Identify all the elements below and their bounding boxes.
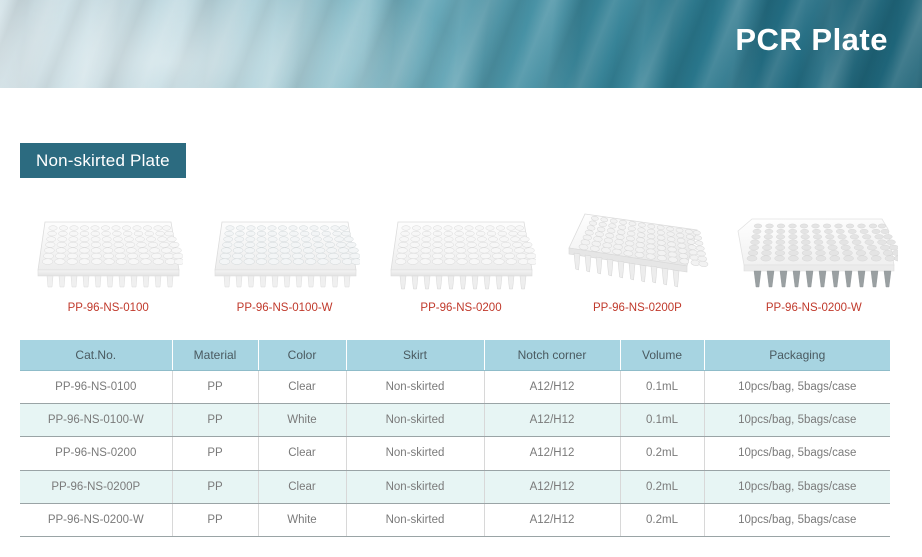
cell-volume: 0.1mL bbox=[620, 370, 704, 403]
product-caption: PP-96-NS-0200 bbox=[420, 302, 501, 314]
cell-packaging: 10pcs/bag, 5bags/case bbox=[704, 370, 890, 403]
cell-cat-no: PP-96-NS-0200-W bbox=[20, 504, 172, 537]
cell-notch-corner: A12/H12 bbox=[484, 403, 620, 436]
table-row: PP-96-NS-0100-W PP White Non-skirted A12… bbox=[20, 403, 890, 436]
table-header: Cat.No. Material Color Skirt Notch corne… bbox=[20, 340, 890, 370]
pcr-plate-96-well-icon bbox=[33, 208, 183, 296]
plate-image-clear-front bbox=[20, 206, 196, 298]
cell-volume: 0.2mL bbox=[620, 504, 704, 537]
plate-image-clear-front bbox=[196, 206, 372, 298]
page-title: PCR Plate bbox=[735, 22, 888, 58]
plate-image-clear-angled bbox=[549, 206, 725, 298]
cell-material: PP bbox=[172, 504, 258, 537]
column-header-skirt: Skirt bbox=[346, 340, 484, 370]
cell-notch-corner: A12/H12 bbox=[484, 370, 620, 403]
cell-skirt: Non-skirted bbox=[346, 370, 484, 403]
plate-image-white bbox=[726, 206, 902, 298]
cell-packaging: 10pcs/bag, 5bags/case bbox=[704, 470, 890, 503]
pcr-plate-96-well-angled-icon bbox=[557, 204, 717, 300]
column-header-material: Material bbox=[172, 340, 258, 370]
cell-cat-no: PP-96-NS-0200 bbox=[20, 437, 172, 470]
cell-color: Clear bbox=[258, 470, 346, 503]
page-banner: PCR Plate bbox=[0, 0, 922, 88]
cell-material: PP bbox=[172, 370, 258, 403]
cell-skirt: Non-skirted bbox=[346, 437, 484, 470]
cell-packaging: 10pcs/bag, 5bags/case bbox=[704, 504, 890, 537]
product-card[interactable]: PP-96-NS-0100-W bbox=[196, 196, 372, 314]
product-card[interactable]: PP-96-NS-0200-W bbox=[726, 196, 902, 314]
cell-color: White bbox=[258, 403, 346, 436]
pcr-plate-96-well-icon bbox=[386, 208, 536, 296]
product-caption: PP-96-NS-0200P bbox=[593, 302, 682, 314]
cell-color: Clear bbox=[258, 370, 346, 403]
table-row: PP-96-NS-0200 PP Clear Non-skirted A12/H… bbox=[20, 437, 890, 470]
table-header-row: Cat.No. Material Color Skirt Notch corne… bbox=[20, 340, 890, 370]
cell-material: PP bbox=[172, 470, 258, 503]
product-image-strip: PP-96-NS-0100 bbox=[20, 196, 902, 314]
cell-cat-no: PP-96-NS-0100 bbox=[20, 370, 172, 403]
plate-image-clear-front bbox=[373, 206, 549, 298]
cell-material: PP bbox=[172, 437, 258, 470]
product-card[interactable]: PP-96-NS-0100 bbox=[20, 196, 196, 314]
product-card[interactable]: PP-96-NS-0200P bbox=[549, 196, 725, 314]
cell-material: PP bbox=[172, 403, 258, 436]
pcr-plate-96-well-white-icon bbox=[730, 207, 898, 297]
section-header-label: Non-skirted Plate bbox=[36, 151, 170, 171]
cell-skirt: Non-skirted bbox=[346, 504, 484, 537]
pcr-plate-96-well-icon bbox=[210, 208, 360, 296]
cell-volume: 0.2mL bbox=[620, 437, 704, 470]
table-body: PP-96-NS-0100 PP Clear Non-skirted A12/H… bbox=[20, 370, 890, 537]
product-caption: PP-96-NS-0200-W bbox=[766, 302, 862, 314]
cell-notch-corner: A12/H12 bbox=[484, 437, 620, 470]
cell-skirt: Non-skirted bbox=[346, 470, 484, 503]
cell-cat-no: PP-96-NS-0100-W bbox=[20, 403, 172, 436]
column-header-volume: Volume bbox=[620, 340, 704, 370]
cell-cat-no: PP-96-NS-0200P bbox=[20, 470, 172, 503]
section-header-non-skirted-plate: Non-skirted Plate bbox=[20, 143, 186, 178]
product-caption: PP-96-NS-0100 bbox=[68, 302, 149, 314]
column-header-color: Color bbox=[258, 340, 346, 370]
product-caption: PP-96-NS-0100-W bbox=[237, 302, 333, 314]
table-row: PP-96-NS-0200-W PP White Non-skirted A12… bbox=[20, 504, 890, 537]
cell-packaging: 10pcs/bag, 5bags/case bbox=[704, 403, 890, 436]
table-row: PP-96-NS-0200P PP Clear Non-skirted A12/… bbox=[20, 470, 890, 503]
product-card[interactable]: PP-96-NS-0200 bbox=[373, 196, 549, 314]
cell-volume: 0.1mL bbox=[620, 403, 704, 436]
column-header-packaging: Packaging bbox=[704, 340, 890, 370]
cell-packaging: 10pcs/bag, 5bags/case bbox=[704, 437, 890, 470]
cell-color: Clear bbox=[258, 437, 346, 470]
column-header-notch-corner: Notch corner bbox=[484, 340, 620, 370]
cell-notch-corner: A12/H12 bbox=[484, 470, 620, 503]
column-header-cat-no: Cat.No. bbox=[20, 340, 172, 370]
specification-table: Cat.No. Material Color Skirt Notch corne… bbox=[20, 340, 890, 537]
table-row: PP-96-NS-0100 PP Clear Non-skirted A12/H… bbox=[20, 370, 890, 403]
cell-skirt: Non-skirted bbox=[346, 403, 484, 436]
cell-volume: 0.2mL bbox=[620, 470, 704, 503]
cell-notch-corner: A12/H12 bbox=[484, 504, 620, 537]
cell-color: White bbox=[258, 504, 346, 537]
